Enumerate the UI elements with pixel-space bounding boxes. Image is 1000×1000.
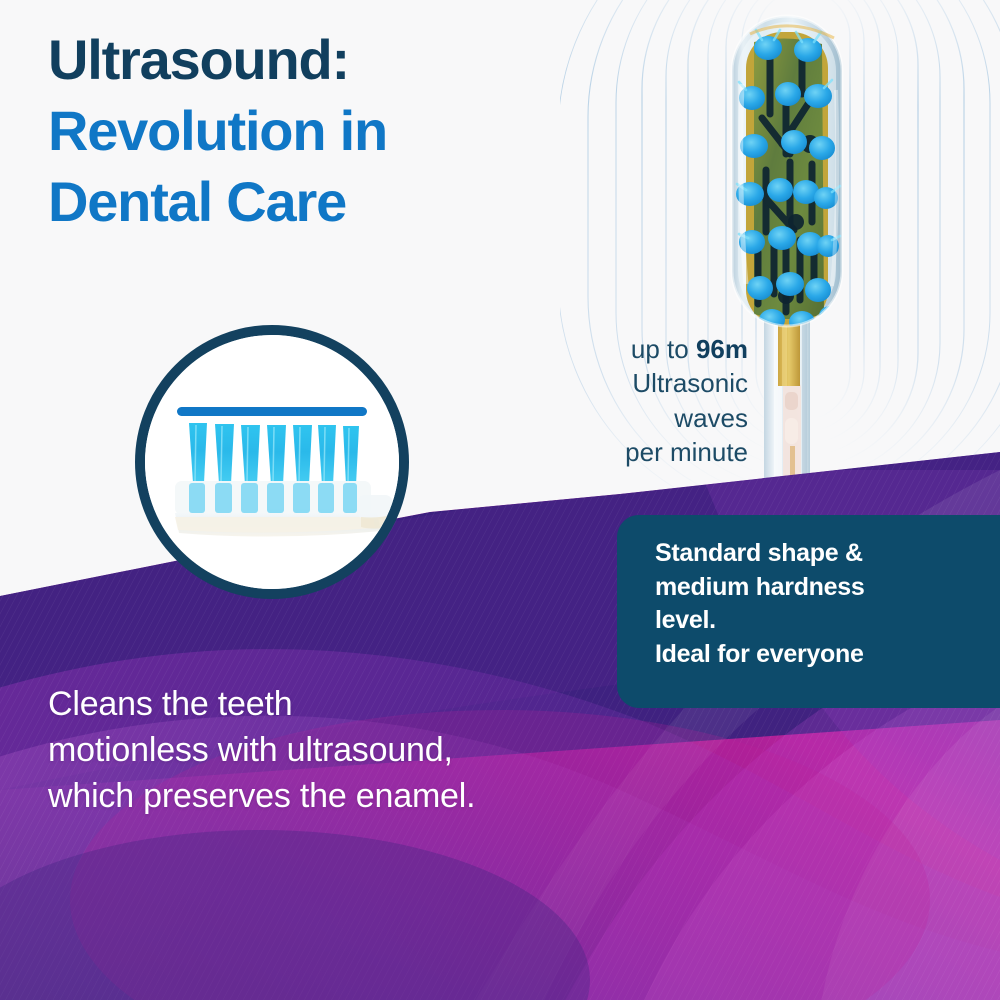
product-attribute-badge: Standard shape & medium hardness level. … (617, 515, 1000, 708)
bottom-copy-line-3: which preserves the enamel. (48, 773, 668, 819)
bottom-copy-line-2: motionless with ultrasound, (48, 727, 668, 773)
stat-line-2: Ultrasonic (528, 366, 748, 400)
ultrasonic-waves-stat: up to 96m Ultrasonic waves per minute (528, 332, 748, 469)
bottom-copy-line-1: Cleans the teeth (48, 681, 668, 727)
product-infographic-poster: Ultrasound: Revolution in Dental Care up… (0, 0, 1000, 1000)
badge-line-2: medium hardness (655, 571, 982, 605)
page-title: Ultrasound: Revolution in Dental Care (48, 24, 568, 237)
badge-line-4: Ideal for everyone (655, 638, 982, 672)
stat-line-4: per minute (528, 435, 748, 469)
headline-line-2: Revolution in (48, 95, 568, 166)
stat-line-1: up to 96m (528, 332, 748, 366)
badge-line-1: Standard shape & (655, 537, 982, 571)
stat-value: 96m (696, 334, 748, 364)
headline-line-1: Ultrasound: (48, 24, 568, 95)
toothbrush-bristles-side-view-photo (145, 335, 399, 589)
bristle-detail-circle-inset (135, 325, 409, 599)
stat-prefix: up to (631, 334, 696, 364)
stat-line-3: waves (528, 401, 748, 435)
badge-text-block: Standard shape & medium hardness level. … (655, 537, 982, 671)
headline-line-3: Dental Care (48, 166, 568, 237)
badge-line-3: level. (655, 604, 982, 638)
benefit-description: Cleans the teeth motionless with ultraso… (48, 681, 668, 820)
